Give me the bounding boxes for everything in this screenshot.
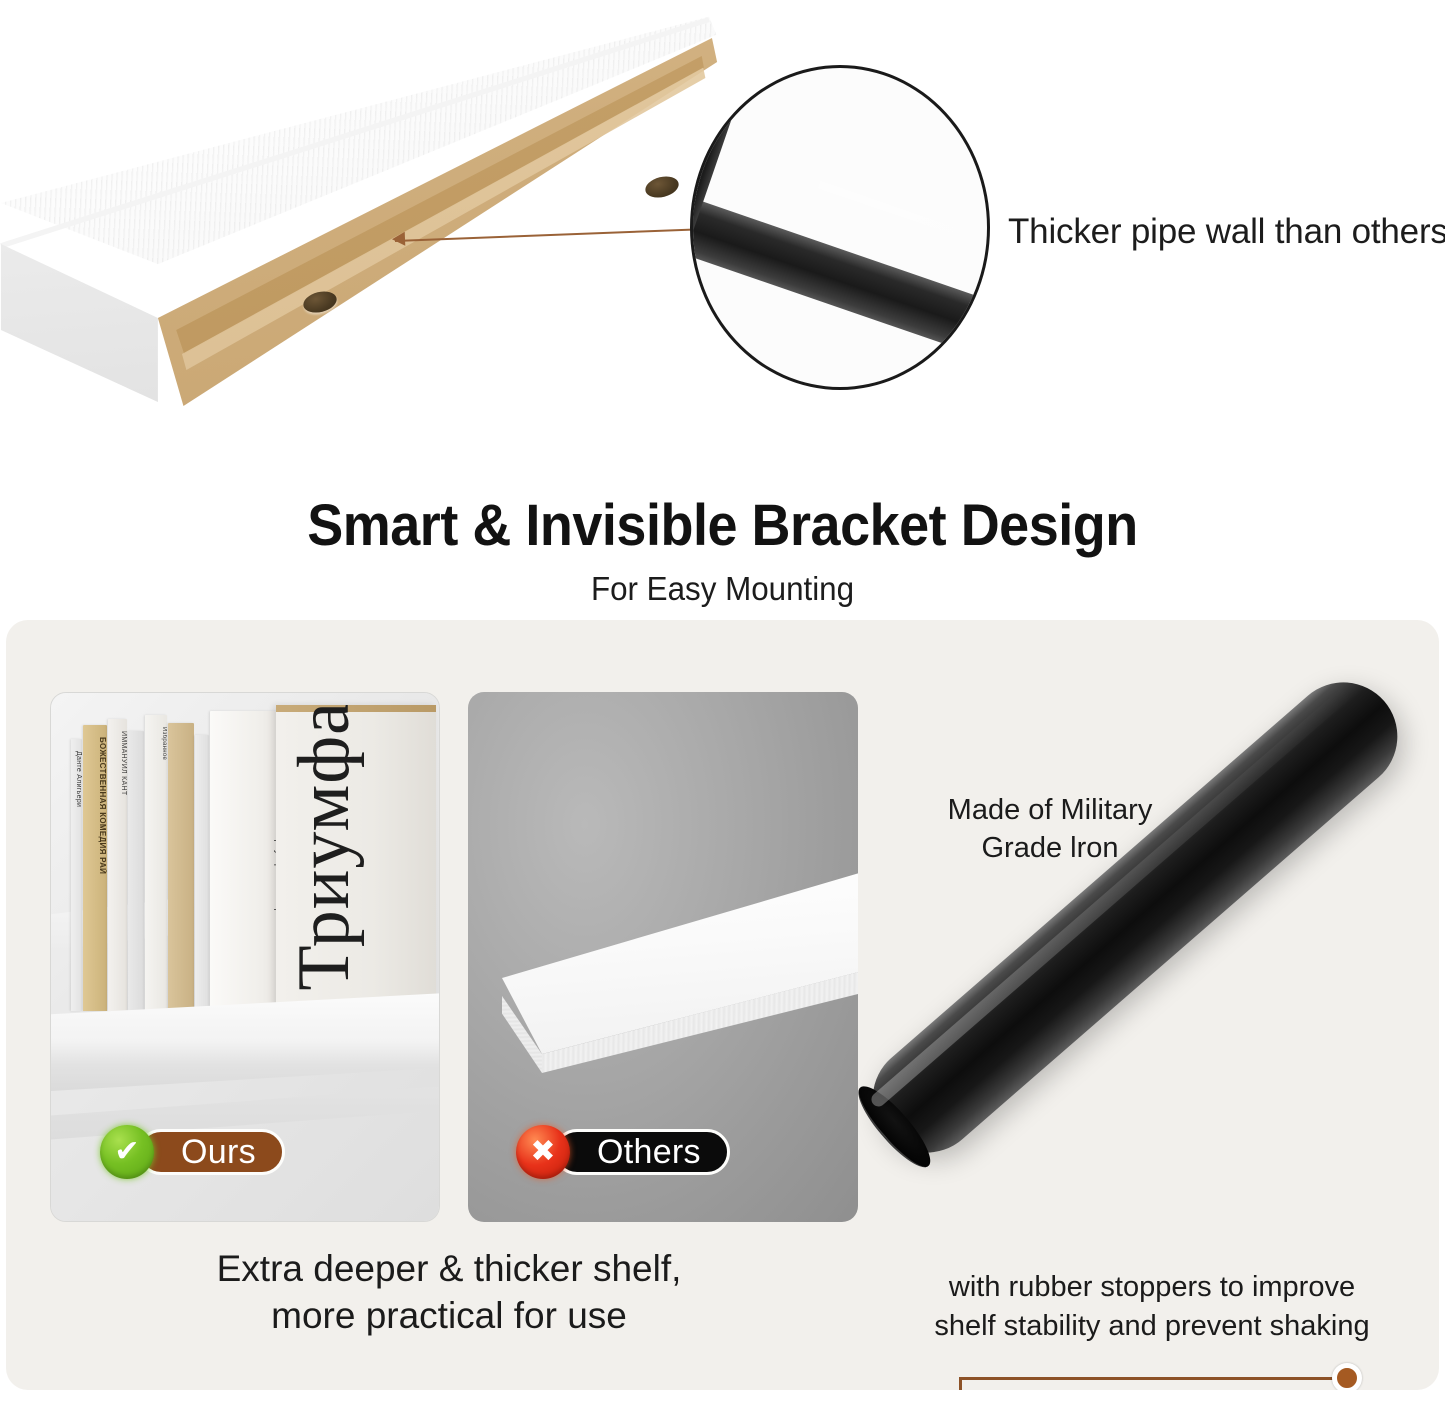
magnified-pipe-horizontal xyxy=(690,188,990,378)
badge-ours-label: Ours xyxy=(138,1129,285,1175)
book-row: Данте Алигьери БОЖЕСТВЕННАЯ КОМЕДИЯ РАЙ … xyxy=(71,711,431,1011)
black-iron-pipe xyxy=(851,660,1420,1175)
caption-military-grade: Made of Military Grade lron xyxy=(905,792,1195,867)
caption-ours-line2: more practical for use xyxy=(44,1292,854,1339)
caption-rubber-stopper: with rubber stoppers to improve shelf st… xyxy=(892,1268,1412,1346)
caption-stopper-line2: shelf stability and prevent shaking xyxy=(892,1307,1412,1346)
caption-military-line2: Grade lron xyxy=(905,830,1195,868)
x-circle-icon: ✖ xyxy=(516,1125,570,1179)
book-spine xyxy=(128,731,144,1011)
book-spine xyxy=(168,723,194,1011)
check-circle-icon: ✔ xyxy=(100,1125,154,1179)
caption-ours: Extra deeper & thicker shelf, more pract… xyxy=(44,1245,854,1340)
book-cover-title: Триумфа xyxy=(282,705,367,991)
badge-others-label: Others xyxy=(554,1129,730,1175)
magnifier-circle xyxy=(690,65,990,390)
hero-caption: Thicker pipe wall than others xyxy=(1008,212,1445,252)
callout-line-vertical xyxy=(959,1377,962,1390)
caption-stopper-line1: with rubber stoppers to improve xyxy=(892,1268,1412,1307)
magnifier-content xyxy=(693,68,987,387)
callout-line-horizontal xyxy=(959,1377,1337,1380)
book-spine: ЭРИХ МАРИЯ РЕМАРК Триумфальная арка xyxy=(210,711,284,1011)
book-cover-large: Триумфа xyxy=(276,705,436,1011)
book-spine: ИММАНУИЛ КАНТ xyxy=(108,719,127,1011)
hero-section: Thicker pipe wall than others xyxy=(0,0,1445,450)
shelf-mounting-hole xyxy=(643,173,681,201)
book-spine xyxy=(195,735,209,1011)
caption-ours-line1: Extra deeper & thicker shelf, xyxy=(44,1245,854,1292)
book-spine: БОЖЕСТВЕННАЯ КОМЕДИЯ РАЙ xyxy=(83,725,107,1011)
product-feature-page: Thicker pipe wall than others Smart & In… xyxy=(0,0,1445,1405)
pipe-highlight xyxy=(869,683,1356,1109)
badge-ours: ✔ Ours xyxy=(100,1125,285,1179)
page-subtitle: For Easy Mounting xyxy=(36,570,1409,608)
book-spine: Избранное xyxy=(145,715,167,1011)
page-title: Smart & Invisible Bracket Design xyxy=(51,492,1395,559)
callout-dot-military-grade xyxy=(1332,1363,1362,1390)
book-spine: Данте Алигьери xyxy=(71,739,82,1011)
shelf-cutaway-photo xyxy=(0,10,730,420)
caption-military-line1: Made of Military xyxy=(905,792,1195,830)
badge-others: ✖ Others xyxy=(516,1125,730,1179)
